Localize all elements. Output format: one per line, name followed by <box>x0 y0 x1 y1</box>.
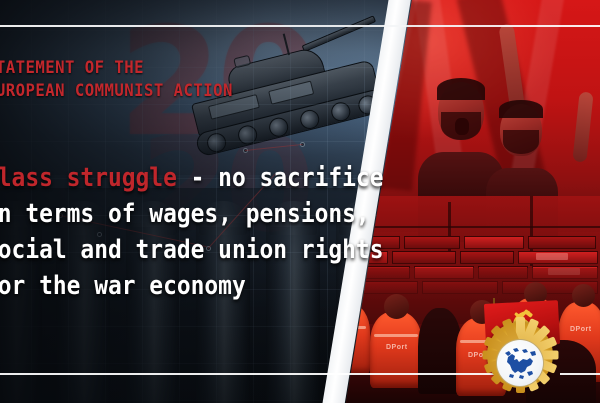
shipping-container <box>460 251 514 264</box>
kicker-line-2: EUROPEAN COMMUNIST ACTION <box>0 80 233 103</box>
shipping-container <box>392 251 456 264</box>
headline-line-4: for the war economy <box>0 268 345 304</box>
headline-line-2: in terms of wages, pensions, <box>0 196 345 232</box>
dock-worker-head <box>572 284 595 307</box>
headline-line-1: Class struggle - no sacrifice <box>0 160 345 196</box>
organisation-emblem <box>487 314 553 380</box>
vest-brand-text: DPort <box>386 344 408 351</box>
protester-hair <box>499 100 543 118</box>
protester-hair <box>437 78 485 100</box>
shipping-container <box>404 236 460 249</box>
shipping-container <box>464 236 524 249</box>
headline-emphasis: Class struggle <box>0 163 177 193</box>
shipping-container <box>528 236 596 249</box>
container-branding <box>536 253 568 260</box>
headline-block: Class struggle - no sacrifice in terms o… <box>0 160 394 304</box>
vest-brand-text: DPort <box>570 326 592 333</box>
headline-line-3: social and trade union rights <box>0 232 345 268</box>
kicker-line-1: STATEMENT OF THE <box>0 57 144 80</box>
bottom-rule-right <box>560 373 600 375</box>
protester-open-mouth <box>455 118 469 135</box>
europe-map-icon <box>502 345 540 383</box>
emblem-globe <box>496 339 544 387</box>
gear-ring-icon <box>487 322 553 388</box>
headline-line-1-rest: - no sacrifice <box>177 163 384 193</box>
vest-stripe <box>374 334 418 337</box>
protester-beard <box>503 130 539 154</box>
bottom-rule-left <box>0 373 500 375</box>
campaign-banner: 20 20 <box>0 0 600 403</box>
raised-arm <box>572 91 593 162</box>
top-rule <box>0 25 600 27</box>
